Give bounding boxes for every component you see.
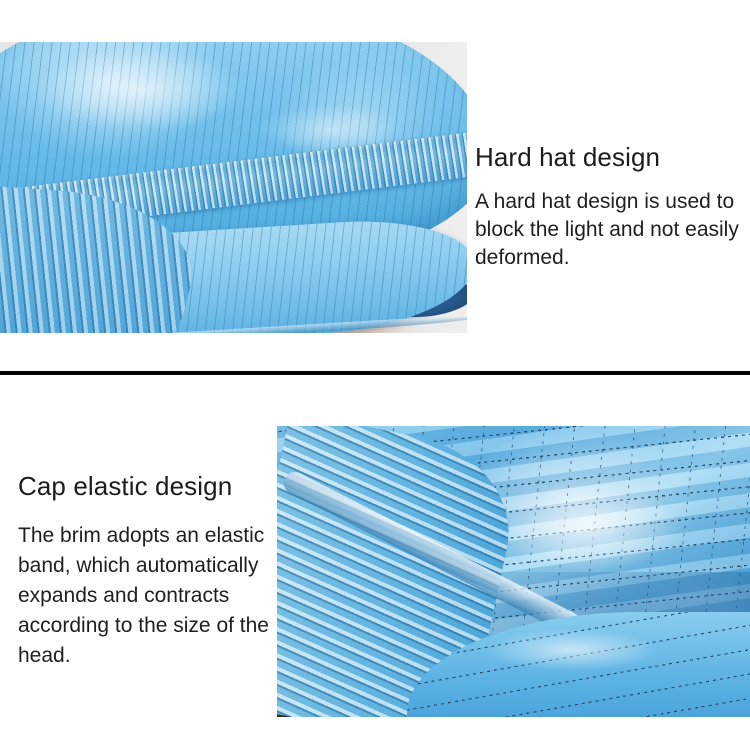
feature-panel-cap-elastic-design: Cap elastic design The brim adopts an el… <box>0 375 750 750</box>
feature-heading: Cap elastic design <box>18 471 274 501</box>
feature-heading: Hard hat design <box>475 142 743 172</box>
feature-panel-hard-hat-design: Hard hat design A hard hat design is use… <box>0 0 750 372</box>
feature-text-cap-elastic-design: Cap elastic design The brim adopts an el… <box>18 471 274 671</box>
feature-description: A hard hat design is used to block the l… <box>475 188 743 272</box>
product-photo-cap-elastic-design <box>277 422 750 717</box>
feature-description: The brim adopts an elastic band, which a… <box>18 521 274 671</box>
product-feature-infographic: Hard hat design A hard hat design is use… <box>0 0 750 750</box>
photo-top-white-strip <box>277 422 750 426</box>
product-photo-hard-hat-design <box>0 42 467 333</box>
flap-highlight <box>447 620 697 680</box>
feature-text-hard-hat-design: Hard hat design A hard hat design is use… <box>475 142 743 272</box>
